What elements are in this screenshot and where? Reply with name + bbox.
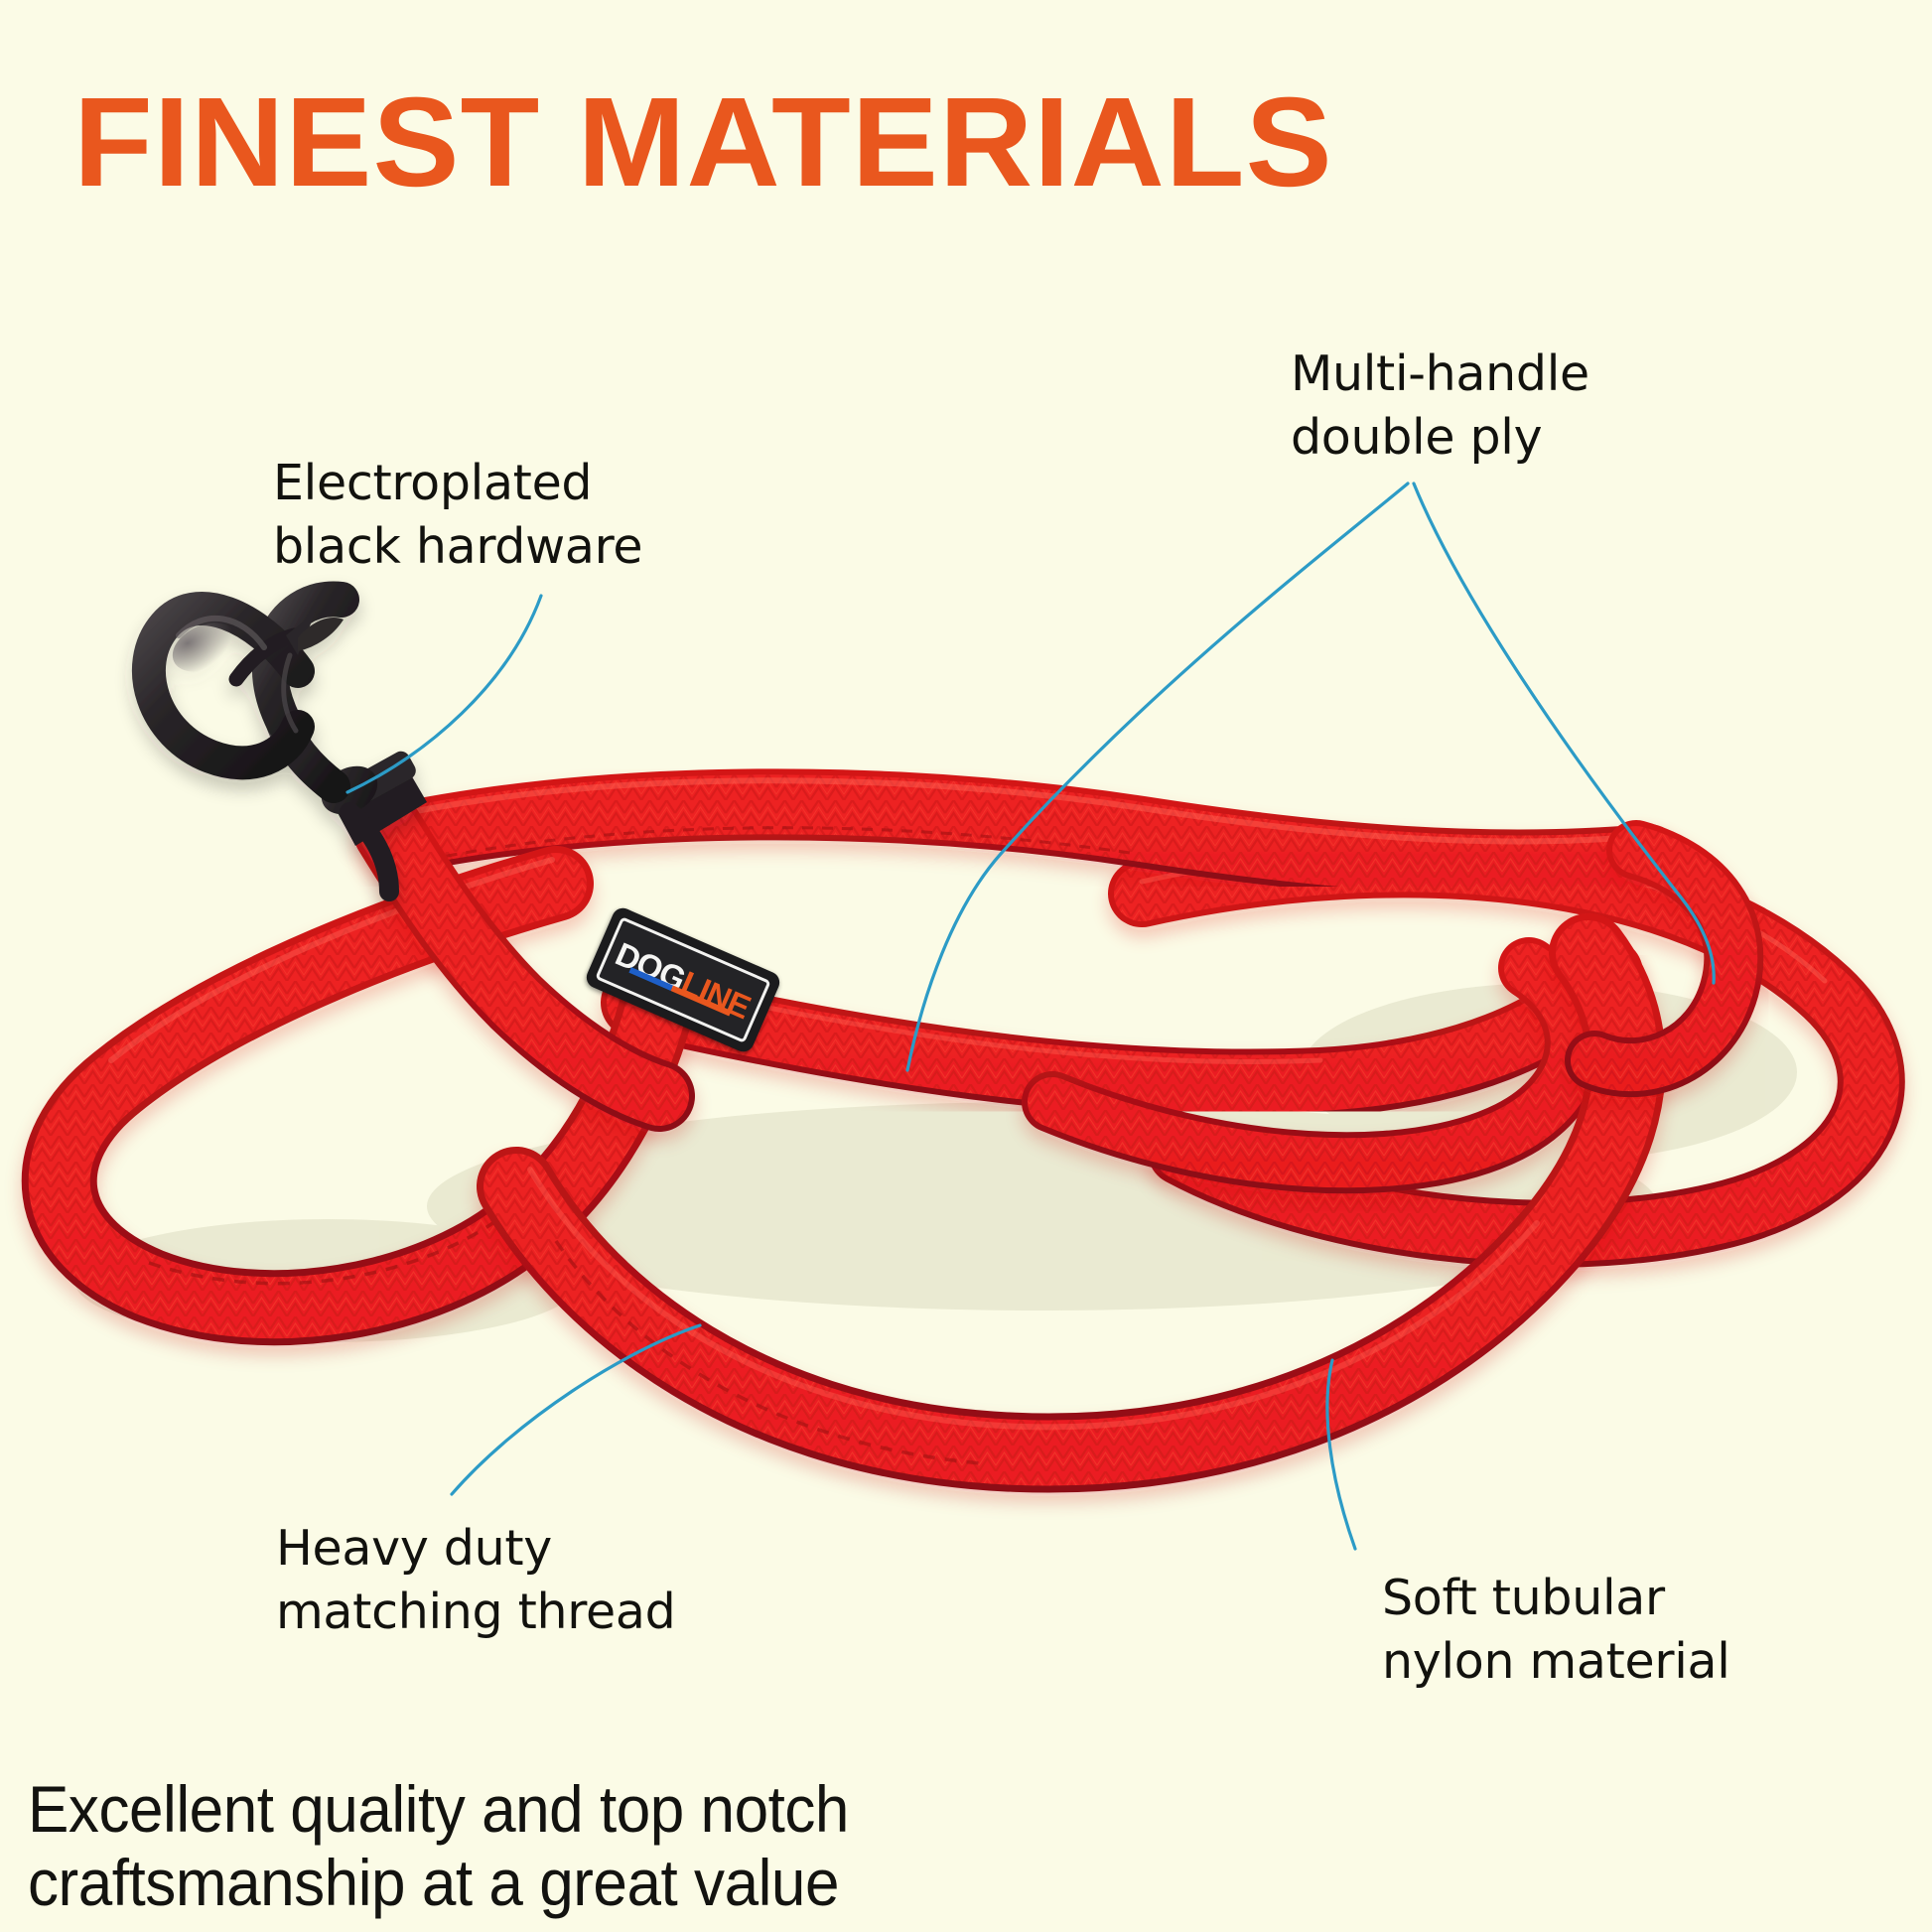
annotation-electroplated-black-hardware: Electroplated black hardware: [273, 452, 642, 578]
footer-line-1: Excellent quality and top notch: [28, 1772, 849, 1846]
infographic-canvas: FINEST MATERIALS: [0, 0, 1932, 1932]
annotation-line-2: matching thread: [276, 1584, 675, 1640]
annotation-soft-tubular-nylon-material: Soft tubular nylon material: [1382, 1567, 1730, 1693]
snap-hook-hardware: [149, 599, 427, 892]
annotation-multi-handle-double-ply: Multi-handle double ply: [1291, 343, 1589, 469]
annotation-line-1: Heavy duty: [276, 1520, 552, 1577]
annotation-line-2: double ply: [1291, 409, 1542, 466]
annotation-line-1: Multi-handle: [1291, 345, 1589, 402]
annotation-line-1: Soft tubular: [1382, 1570, 1665, 1626]
annotation-heavy-duty-matching-thread: Heavy duty matching thread: [276, 1517, 675, 1643]
annotation-line-2: black hardware: [273, 518, 642, 575]
annotation-line-2: nylon material: [1382, 1633, 1730, 1690]
annotation-line-1: Electroplated: [273, 455, 592, 511]
footer-tagline: Excellent quality and top notch craftsma…: [28, 1773, 849, 1920]
leash-strap-top-run: [397, 780, 1648, 865]
footer-line-2: craftsmanship at a great value: [28, 1846, 839, 1919]
